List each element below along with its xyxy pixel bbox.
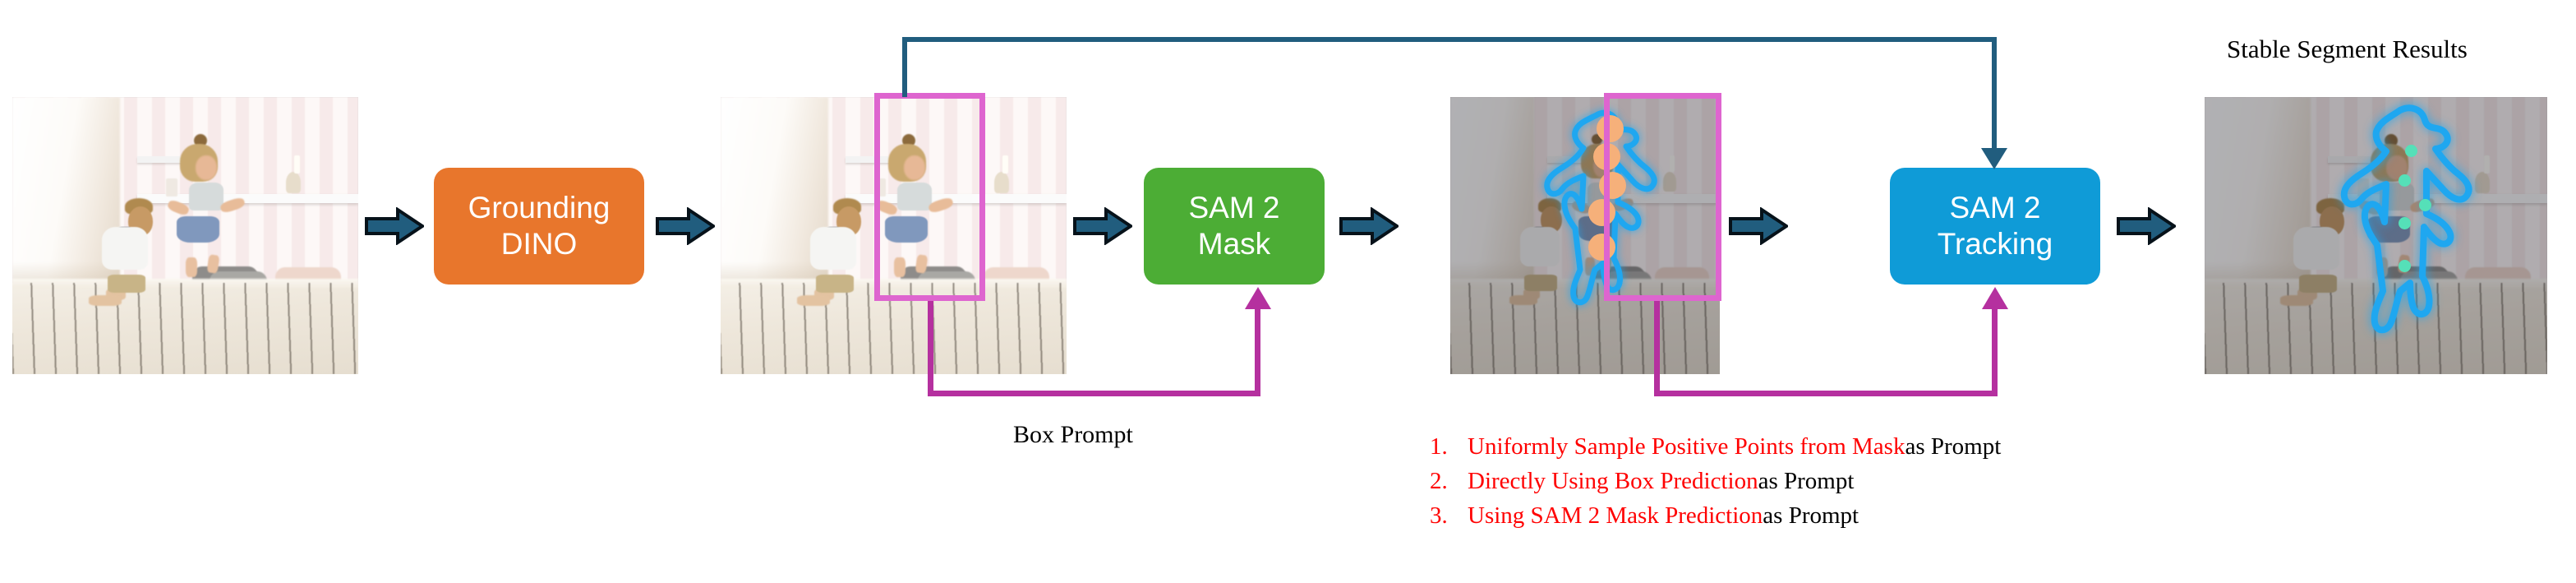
stage-label-line-2: Mask <box>1188 226 1279 262</box>
list-item-red-text: Uniformly Sample Positive Points from Ma… <box>1468 433 1905 460</box>
points-prompt-arrowhead <box>1981 286 2009 311</box>
feedback-line-vertical-right <box>1992 37 1997 152</box>
tracked-point <box>2399 260 2411 272</box>
box-prompt-line-down <box>928 301 933 396</box>
flow-arrow-1 <box>365 207 424 245</box>
box-prompt-line-across <box>928 391 1260 396</box>
stage-sam2-mask[interactable]: SAM 2 Mask <box>1144 168 1325 285</box>
box-prompt-arrowhead <box>1244 286 1272 311</box>
flow-arrow-3 <box>1073 207 1132 245</box>
pipeline-diagram: Grounding DINO <box>0 0 2576 583</box>
flow-arrow-2 <box>656 207 715 245</box>
list-item-black-text: as Prompt <box>1905 433 2001 460</box>
list-item-red-text: Directly Using Box Prediction <box>1468 468 1758 495</box>
stage-label-line-1: SAM 2 <box>1938 190 2053 226</box>
points-prompt-line-down <box>1654 301 1660 396</box>
flow-arrow-4 <box>1339 207 1399 245</box>
list-item: 1. Uniformly Sample Positive Points from… <box>1430 433 2498 460</box>
stable-segment-results-title: Stable Segment Results <box>2227 35 2468 64</box>
stage-grounding-dino[interactable]: Grounding DINO <box>434 168 644 285</box>
list-item: 3. Using SAM 2 Mask Prediction as Prompt <box>1430 502 2498 530</box>
list-item-black-text: as Prompt <box>1758 468 1855 495</box>
box-prompt-label: Box Prompt <box>1013 421 1133 449</box>
list-item-number: 1. <box>1430 433 1468 460</box>
input-frame <box>12 97 358 374</box>
box-prompt-line-up <box>1255 308 1260 396</box>
list-item-red-text: Using SAM 2 Mask Prediction <box>1468 502 1763 530</box>
stage-label-line-2: Tracking <box>1938 226 2053 262</box>
list-item-number: 2. <box>1430 468 1468 495</box>
points-prompt-line-up <box>1992 308 1998 396</box>
tracked-point <box>2399 174 2411 187</box>
detection-bounding-box <box>874 93 985 301</box>
flow-arrow-6 <box>2117 207 2176 245</box>
tracked-point <box>2399 217 2411 229</box>
list-item-black-text: as Prompt <box>1763 502 1859 530</box>
prompt-bounding-box <box>1604 93 1721 301</box>
flow-arrow-5 <box>1729 207 1788 245</box>
feedback-line-horizontal <box>902 37 1997 42</box>
tracked-point <box>2405 145 2417 157</box>
points-prompt-line-across <box>1654 391 1998 396</box>
feedback-line-vertical-left <box>902 37 907 97</box>
prompt-options-list: 1. Uniformly Sample Positive Points from… <box>1430 433 2498 537</box>
list-item-number: 3. <box>1430 502 1468 530</box>
tracking-result-frame <box>2205 97 2547 374</box>
stage-label-line-2: DINO <box>468 226 611 262</box>
feedback-arrowhead <box>1978 146 2011 171</box>
stage-sam2-tracking[interactable]: SAM 2 Tracking <box>1890 168 2100 285</box>
list-item: 2. Directly Using Box Prediction as Prom… <box>1430 468 2498 495</box>
stage-label-line-1: SAM 2 <box>1188 190 1279 226</box>
tracked-point <box>2419 199 2431 211</box>
stage-label-line-1: Grounding <box>468 190 611 226</box>
